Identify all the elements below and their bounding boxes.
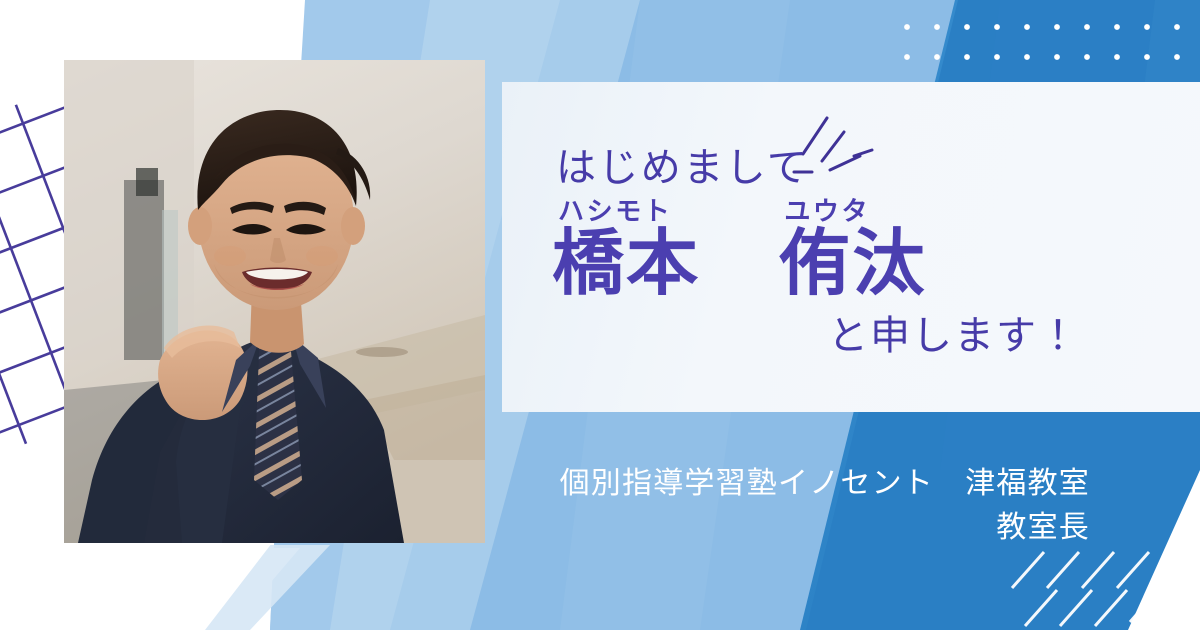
given-name-kanji: 侑汰 [778,228,926,301]
given-name-ruby: ユウタ [784,198,870,224]
given-name-unit: ユウタ 侑汰 [778,198,926,301]
greeting-text: はじめまして [556,148,809,188]
family-name-unit: ハシモト 橋本 [552,198,700,301]
footer-credit: 個別指導学習塾イノセント 津福教室 教室長 [0,462,1090,549]
family-name-kanji: 橋本 [552,228,700,301]
footer-line-1: 個別指導学習塾イノセント 津福教室 [560,467,1090,500]
footer-line-2: 教室長 [0,506,1090,550]
name-block: ハシモト 橋本 ユウタ 侑汰 [552,198,927,301]
family-name-ruby: ハシモト [558,198,672,224]
closing-text: と申します！ [828,316,1080,356]
banner-canvas: はじめまして ハシモト 橋本 ユウタ 侑汰 と申します！ 個別指導学習塾イノセン… [0,0,1200,630]
